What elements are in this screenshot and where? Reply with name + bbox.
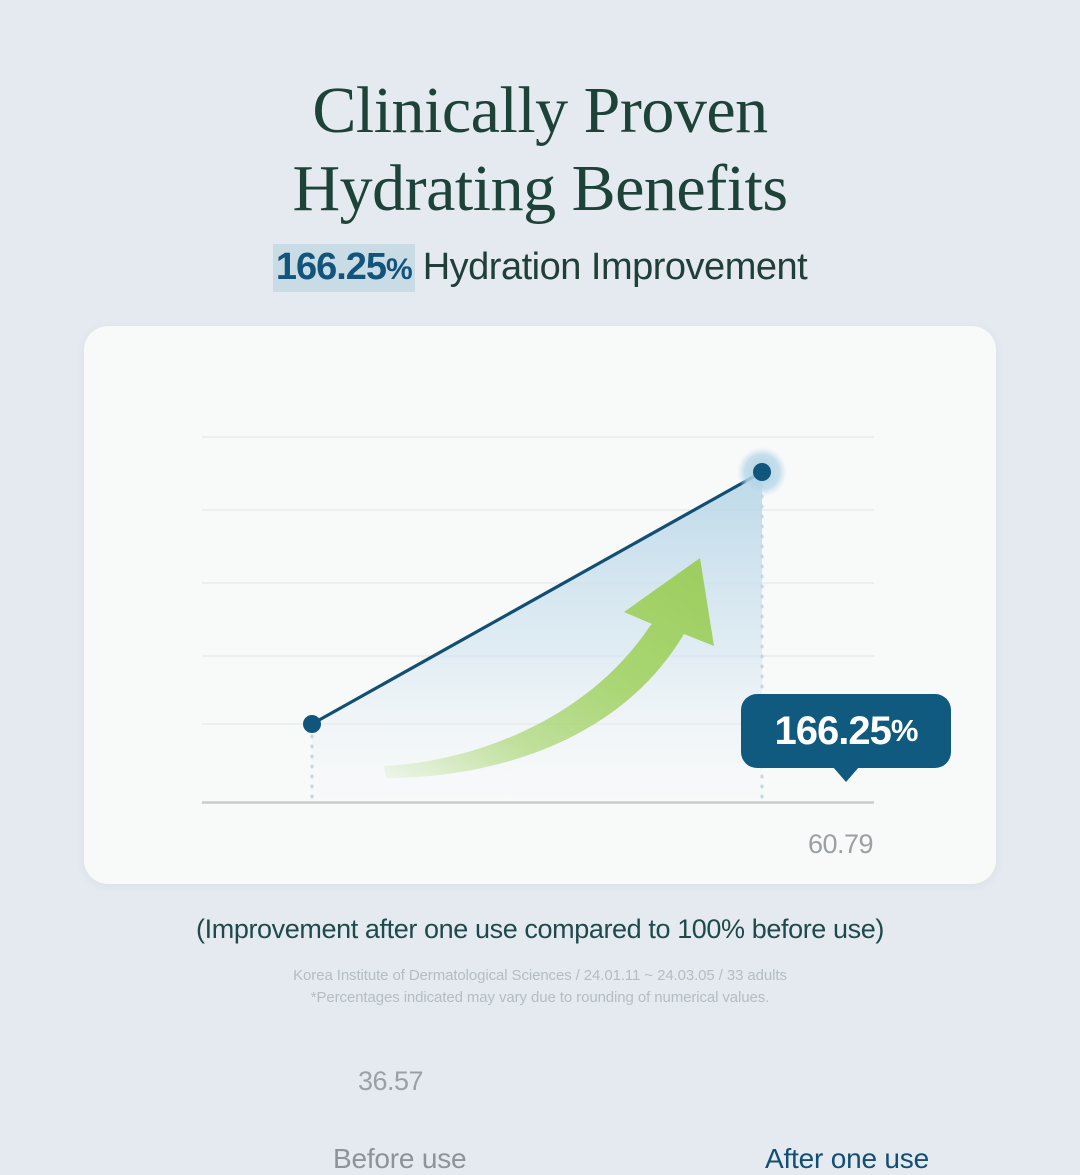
highlight-stat-number: 166.25 [276,246,386,288]
value-label-after: 60.79 [808,829,873,860]
footer-caption: (Improvement after one use compared to 1… [0,914,1080,945]
header: Clinically Proven Hydrating Benefits 166… [0,0,1080,289]
page-title-line-1: Clinically Proven [0,72,1080,150]
value-label-before: 36.57 [358,1066,423,1097]
page-title-line-2: Hydrating Benefits [0,150,1080,228]
highlight-stat-percent: % [386,253,412,286]
value-tooltip[interactable]: 166.25% [741,694,951,768]
footer-fineprint: Korea Institute of Dermatological Scienc… [0,965,1080,1009]
page-title: Clinically Proven Hydrating Benefits [0,0,1080,228]
data-point-before[interactable] [303,715,321,733]
subtitle: 166.25%Hydration Improvement [0,246,1080,289]
x-axis-label-before-use: Before use [333,1143,466,1175]
rounding-disclaimer: *Percentages indicated may vary due to r… [0,987,1080,1009]
highlight-stat: 166.25% [273,244,415,292]
subtitle-text: Hydration Improvement [423,246,807,288]
chart-card: 166.25% 36.57 60.79 Before use After one… [84,326,996,884]
study-source: Korea Institute of Dermatological Scienc… [0,965,1080,987]
x-axis-label-after-one-use: After one use [765,1143,929,1175]
data-point-after[interactable] [753,463,771,481]
footer: (Improvement after one use compared to 1… [0,914,1080,1009]
tooltip-percent: % [891,713,918,749]
hydration-line-chart [84,326,996,884]
tooltip-value: 166.25 [775,709,891,754]
